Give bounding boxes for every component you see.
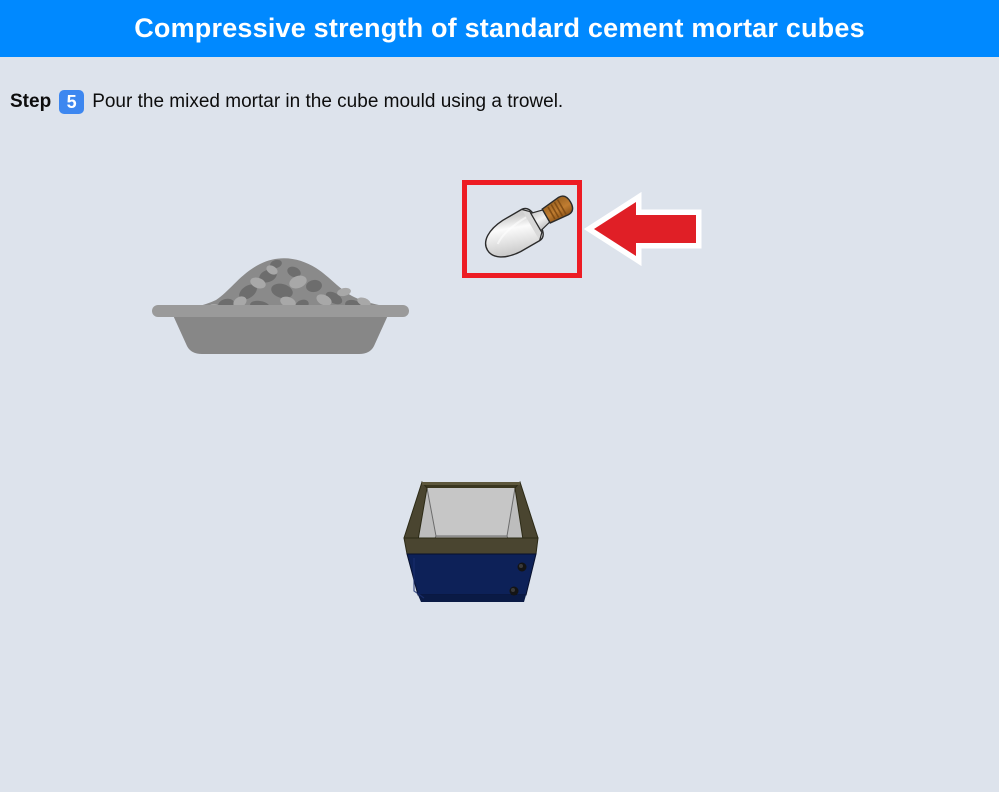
mortar-tray-svg	[148, 250, 413, 360]
trowel-illustration	[466, 190, 578, 270]
step-label: Step	[10, 91, 51, 113]
mould-body-bottom-lip	[418, 595, 526, 602]
header-bar: Compressive strength of standard cement …	[0, 0, 999, 57]
mortar-tray-illustration	[148, 250, 413, 360]
arrow-svg	[592, 196, 702, 262]
mould-body	[407, 554, 536, 602]
page-title: Compressive strength of standard cement …	[134, 13, 865, 44]
trowel-svg	[466, 190, 578, 270]
step-line: Step 5 Pour the mixed mortar in the cube…	[10, 88, 563, 116]
cube-mould-svg	[400, 474, 542, 606]
cube-mould-illustration	[400, 474, 542, 606]
step-instruction-text: Pour the mixed mortar in the cube mould …	[92, 91, 563, 113]
tray-body	[172, 313, 389, 354]
step-number-badge: 5	[59, 90, 84, 114]
tray-rim	[152, 305, 409, 317]
left-pointing-arrow	[592, 196, 702, 262]
